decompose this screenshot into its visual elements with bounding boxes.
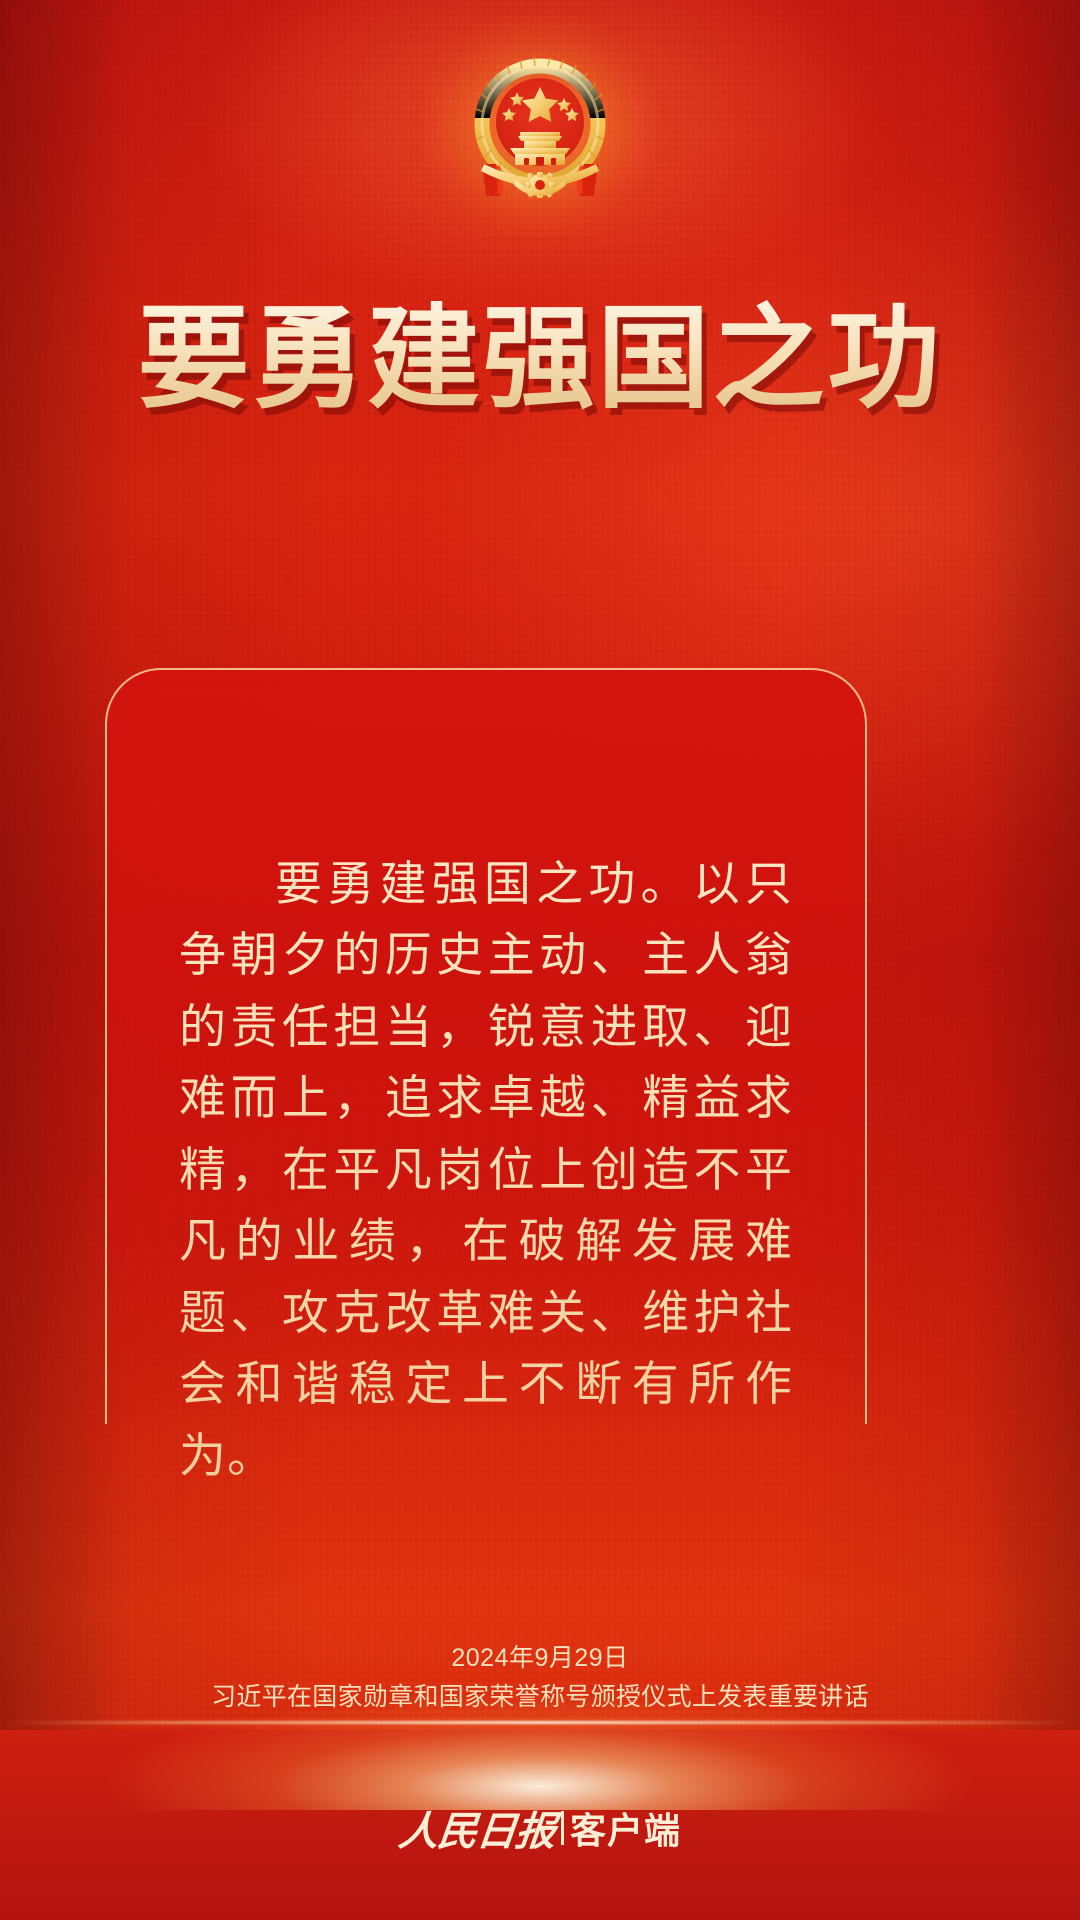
page-title: 要勇建强国之功 [0, 300, 1080, 418]
poster-root: 要勇建强国之功 要勇建强国之功。以只争朝夕的历史主动、主人翁的责任担当，锐意进取… [0, 0, 1080, 1920]
national-emblem [460, 52, 620, 204]
attribution-block: 2024年9月29日 习近平在国家勋章和国家荣誉称号颁授仪式上发表重要讲话 [0, 1640, 1080, 1716]
brand-name-peoples-daily: 人民日报 [396, 1799, 558, 1857]
attribution-date: 2024年9月29日 [0, 1640, 1080, 1678]
china-national-emblem-icon [460, 52, 620, 204]
brand-name-app: 客户端 [570, 1802, 681, 1854]
bottom-light-line [0, 1721, 1080, 1724]
attribution-speech: 习近平在国家勋章和国家荣誉称号颁授仪式上发表重要讲话 [0, 1678, 1080, 1717]
footer-brand: 人民日报 客户端 [0, 1800, 1080, 1856]
brand-divider [561, 1811, 564, 1845]
quote-body-text: 要勇建强国之功。以只争朝夕的历史主动、主人翁的责任担当，锐意进取、迎难而上，追求… [105, 848, 867, 1491]
